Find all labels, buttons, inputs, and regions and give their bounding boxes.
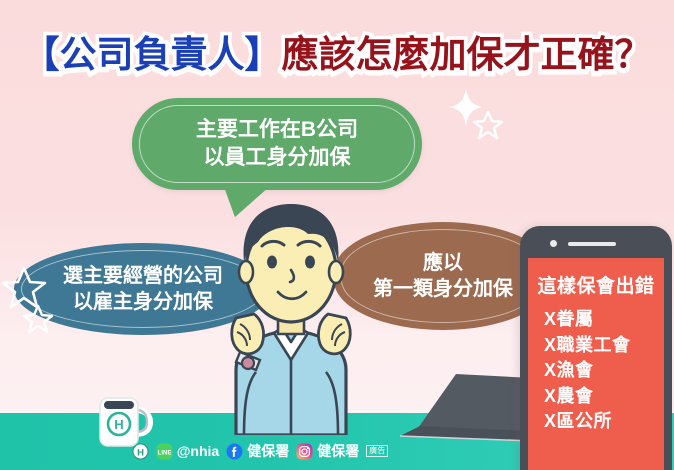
mug-logo-letter: H [114,417,123,432]
wrong-options-list: X眷屬 X職業工會 X漁會 X農會 X區公所 [528,307,664,435]
list-item: X職業工會 [544,333,664,359]
phone-screen[interactable]: 這樣保會出錯 X眷屬 X職業工會 X漁會 X農會 X區公所 [528,258,664,470]
green-line-1: 主要工作在B公司 [196,118,358,141]
instagram-icon[interactable] [296,443,313,460]
facebook-label: 健保署 [247,441,289,461]
instagram-account[interactable]: 健保署 廣告 [296,441,388,461]
sparkle-top-right-icon [446,86,512,152]
title-bracket-text: 【公司負責人】 [23,34,282,75]
phone-speaker-icon [568,242,616,246]
svg-text:LINE: LINE [157,450,171,456]
green-line-2: 以員工身分加保 [203,146,350,169]
speech-bubble-green-text: 主要工作在B公司 以員工身分加保 [196,116,358,171]
footer-social-bar: H LINE @nhia 健保署 [0,441,520,461]
title-block: 【公司負責人】應該怎麼加保才正確？ [0,36,674,73]
title-question-text: 應該怎麼加保才正確？ [282,34,652,75]
nhi-logo: H [132,443,149,460]
instagram-label: 健保署 [317,441,359,461]
list-item: X漁會 [544,358,664,384]
person-illustration [196,200,386,435]
speech-bubble-green[interactable]: 主要工作在B公司 以員工身分加保 [132,98,422,190]
line-handle-label: @nhia [177,443,219,459]
nhi-logo-icon: H [132,443,149,460]
line-icon[interactable]: LINE [156,443,173,460]
facebook-account[interactable]: 健保署 [226,441,289,461]
phone-screen-title: 這樣保會出錯 [528,271,664,298]
list-item: X農會 [544,384,664,410]
speech-bubble-brown-text: 應以 第一類身分加保 [373,250,513,303]
smartphone[interactable]: 這樣保會出錯 X眷屬 X職業工會 X漁會 X農會 X區公所 [520,226,672,470]
poster-title: 【公司負責人】應該怎麼加保才正確？ [23,36,652,73]
list-item: X區公所 [544,409,664,435]
ad-badge: 廣告 [366,445,388,457]
brown-line-2: 第一類身分加保 [373,278,513,300]
phone-camera-icon [550,240,557,247]
list-item: X眷屬 [544,307,664,333]
blue-line-2: 以雇主身分加保 [73,291,213,313]
facebook-icon[interactable] [226,443,243,460]
svg-text:H: H [137,447,144,458]
line-account[interactable]: LINE @nhia [156,443,219,460]
poster-canvas: 【公司負責人】應該怎麼加保才正確？ 主要工作在B公司 以員工身分加保 選主要經營… [0,0,674,470]
brown-line-1: 應以 [423,252,463,274]
